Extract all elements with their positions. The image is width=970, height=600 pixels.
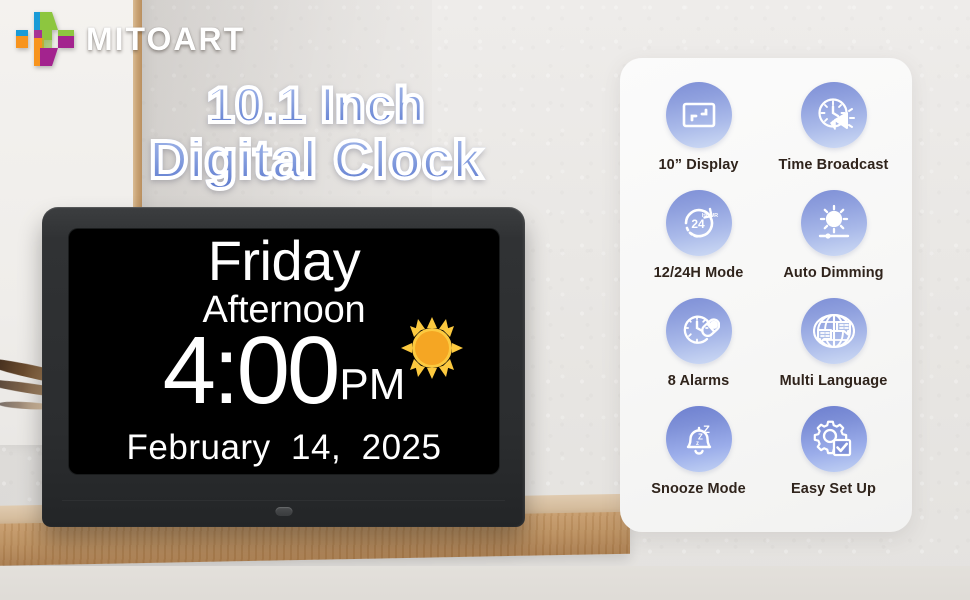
brand-logo: MITOART: [12, 8, 245, 70]
feature-label: Auto Dimming: [783, 265, 883, 281]
feature-grid: 10” Display: [634, 82, 898, 514]
bell-zzz-icon: Z Z z: [666, 406, 732, 472]
globe-chat-icon: [801, 298, 867, 364]
headline-line-2: Digital Clock: [116, 133, 516, 188]
lower-wall: [0, 566, 970, 600]
pinwheel-cross-logo-icon: [12, 8, 74, 70]
sun-icon: [401, 317, 463, 379]
bezel-seam: [62, 500, 505, 501]
feature-item-display[interactable]: 10” Display: [634, 82, 763, 190]
brand-name: MITOART: [86, 21, 245, 58]
svg-text:z: z: [696, 441, 699, 447]
feature-item-language[interactable]: Multi Language: [769, 298, 898, 406]
feature-item-setup[interactable]: Easy Set Up: [769, 406, 898, 514]
svg-text:24: 24: [691, 217, 705, 231]
headline: 10.1 Inch Digital Clock: [116, 80, 516, 188]
screen-day-of-week: Friday: [69, 233, 499, 289]
feature-panel: 10” Display: [620, 58, 912, 532]
feature-item-snooze[interactable]: Z Z z Snooze Mode: [634, 406, 763, 514]
24-hour-cycle-icon: 24 HOUR: [666, 190, 732, 256]
digital-clock-device: Friday Afternoon 4:00 PM: [42, 207, 525, 527]
feature-item-dimming[interactable]: Auto Dimming: [769, 190, 898, 298]
feature-item-broadcast[interactable]: Time Broadcast: [769, 82, 898, 190]
clock-pills-icon: [666, 298, 732, 364]
feature-label: Time Broadcast: [779, 157, 889, 173]
svg-text:HOUR: HOUR: [701, 213, 717, 219]
screen-size-icon: [666, 82, 732, 148]
brightness-sun-icon: [801, 190, 867, 256]
feature-label: 12/24H Mode: [654, 265, 744, 281]
feature-label: Multi Language: [780, 373, 888, 389]
clock-megaphone-icon: [801, 82, 867, 148]
product-banner: MITOART 10.1 Inch Digital Clock Friday A…: [0, 0, 970, 600]
feature-item-alarms[interactable]: 8 Alarms: [634, 298, 763, 406]
gear-checkbox-icon: [801, 406, 867, 472]
feature-label: Easy Set Up: [791, 481, 876, 497]
headline-line-1: 10.1 Inch: [116, 80, 516, 131]
light-sensor-icon: [275, 507, 292, 516]
feature-label: 8 Alarms: [668, 373, 730, 389]
screen-time: 4:00: [163, 327, 338, 415]
screen-ampm: PM: [339, 363, 405, 415]
feature-item-hour-mode[interactable]: 24 HOUR 12/24H Mode: [634, 190, 763, 298]
feature-label: Snooze Mode: [651, 481, 746, 497]
feature-label: 10” Display: [658, 157, 738, 173]
clock-screen: Friday Afternoon 4:00 PM: [69, 229, 499, 474]
svg-text:Z: Z: [703, 424, 710, 436]
screen-date: February 14, 2025: [69, 428, 499, 468]
